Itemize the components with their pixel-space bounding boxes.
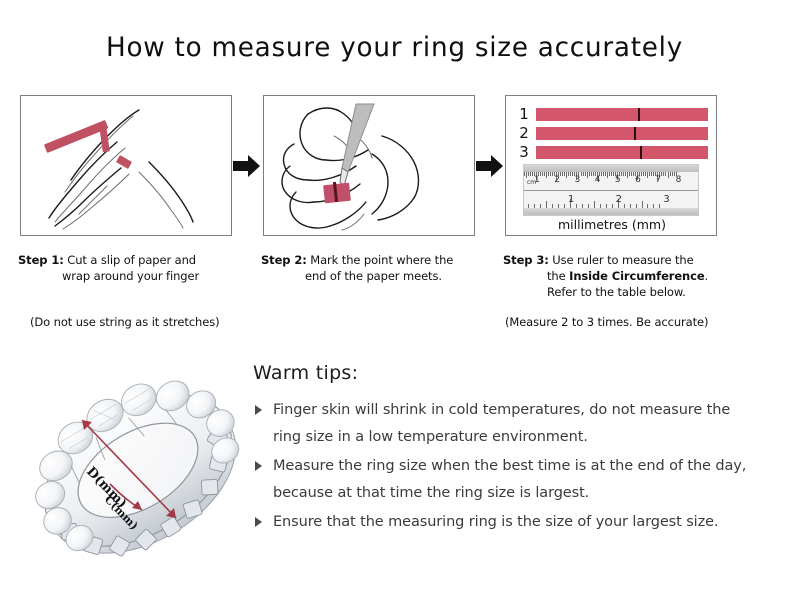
ruler-tick	[564, 204, 565, 208]
ruler-bottom-number: 3	[663, 194, 669, 205]
ruler-tick	[552, 204, 553, 208]
ruler-tick	[540, 172, 541, 176]
ruler-tick	[668, 172, 669, 178]
measured-strip-row-2: 2	[514, 127, 714, 142]
ruler-top-edge	[524, 165, 698, 172]
ruler-bottom-number: 1	[568, 194, 574, 205]
step-1-line2: wrap around your finger	[18, 268, 250, 284]
step-3-line2-pre: the	[547, 269, 569, 283]
ruler-tick	[609, 172, 610, 176]
warm-tips-section: Warm tips: Finger skin will shrink in co…	[253, 362, 753, 538]
ruler-top-number: 8	[676, 175, 682, 185]
ruler-top-number: 6	[635, 175, 641, 185]
ruler-tick	[581, 172, 582, 176]
ruler-tick	[583, 172, 584, 176]
ruler-tick	[674, 172, 675, 176]
ruler-tick	[544, 172, 545, 176]
arrow-right-icon-1	[233, 153, 261, 179]
strip-mark-2	[634, 127, 636, 140]
hand-marking-paper-icon	[264, 96, 474, 235]
ruler-tick	[621, 172, 622, 176]
ruler-tick	[631, 172, 632, 176]
step-1-illustration-panel	[20, 95, 232, 236]
ruler-tick	[588, 204, 589, 208]
ruler-tick	[582, 204, 583, 208]
paper-strip-shape	[323, 182, 351, 203]
ruler-tick	[647, 172, 648, 178]
step-2-illustration-panel	[263, 95, 475, 236]
ruler-tick	[587, 172, 588, 178]
ruler-tick	[572, 172, 573, 176]
ruler-tick	[633, 172, 634, 176]
ruler-tick	[589, 172, 590, 176]
ruler-top-number: 4	[595, 175, 601, 185]
ruler-tick	[558, 204, 559, 208]
hand-with-paper-strip-icon	[21, 96, 231, 235]
pen-shape	[340, 104, 374, 186]
measured-strip-row-1: 1	[514, 108, 714, 123]
triangle-bullet-icon	[255, 517, 262, 527]
ruler-tick	[542, 172, 543, 176]
step-1-note: (Do not use string as it stretches)	[30, 315, 219, 329]
page-title: How to measure your ring size accurately	[12, 32, 777, 63]
step-2-label: Step 2:	[261, 253, 307, 267]
ruler-tick	[641, 172, 642, 176]
ruler-tick	[576, 204, 577, 208]
ruler-tick	[611, 172, 612, 176]
step-3-label: Step 3:	[503, 253, 549, 267]
ruler-tick	[651, 172, 652, 176]
ruler-tick	[630, 204, 631, 208]
warm-tip-text: Finger skin will shrink in cold temperat…	[273, 402, 730, 445]
step-3-line1: Use ruler to measure the	[552, 253, 693, 267]
step-3-line2-post: .	[705, 269, 709, 283]
strip-number-3: 3	[516, 143, 532, 161]
ruler-tick	[530, 172, 531, 176]
ring-measurement-figure: D(mm) C(mm)	[24, 352, 254, 587]
ruler-graphic: 12345678 123 cm	[523, 164, 699, 216]
ruler-tick	[613, 172, 614, 176]
ruler-tick	[546, 172, 547, 178]
ruler-divider	[524, 190, 698, 191]
step-2-caption: Step 2: Mark the point where the end of …	[261, 252, 493, 284]
ruler-tick	[594, 201, 595, 208]
ruler-top-number: 3	[574, 175, 580, 185]
strip-bar-2	[536, 127, 708, 140]
ruler-tick	[601, 172, 602, 176]
ruler-tick	[636, 204, 637, 208]
ruler-tick	[659, 204, 660, 208]
strip-number-1: 1	[516, 105, 532, 123]
ruler-tick	[600, 204, 601, 208]
ruler-tick	[560, 172, 561, 176]
ruler-tick	[564, 172, 565, 176]
ruler-tick	[552, 172, 553, 176]
ruler-tick	[629, 172, 630, 176]
strip-number-2: 2	[516, 124, 532, 142]
ruler-tick	[649, 172, 650, 176]
ruler-tick	[624, 204, 625, 208]
ruler-tick	[642, 201, 643, 208]
strip-bar-1	[536, 108, 708, 121]
ruler-tick	[670, 172, 671, 176]
measured-strip-row-3: 3	[514, 146, 714, 161]
strip-mark-3	[640, 146, 642, 159]
ruler-tick	[562, 172, 563, 176]
ruler-unit-label: millimetres (mm)	[506, 217, 717, 232]
ruler-tick	[566, 172, 567, 178]
step-2-line2: end of the paper meets.	[261, 268, 493, 284]
step-3-line3: Refer to the table below.	[503, 284, 753, 300]
ruler-tick	[570, 172, 571, 176]
ruler-tick	[647, 204, 648, 208]
ruler-bottom-edge	[524, 208, 698, 215]
ruler-top-number: 5	[615, 175, 621, 185]
strip-mark-1	[638, 108, 640, 121]
triangle-bullet-icon	[255, 405, 262, 415]
ring-diagram-icon: D(mm) C(mm)	[24, 352, 254, 587]
ruler-tick	[593, 172, 594, 176]
ruler-top-number: 2	[554, 175, 560, 185]
ruler-tick	[534, 204, 535, 208]
step-1-label: Step 1:	[18, 253, 64, 267]
warm-tip-text: Ensure that the measuring ring is the si…	[273, 514, 718, 530]
triangle-bullet-icon	[255, 461, 262, 471]
ruler-tick	[526, 172, 527, 178]
ruler-tick	[643, 172, 644, 176]
ruler-tick	[606, 204, 607, 208]
step-3-line2: the Inside Circumference.	[503, 268, 753, 284]
ruler-tick	[591, 172, 592, 176]
step-3-illustration-panel: 1 2 3 12345678 123 cm millimetres (mm)	[505, 95, 717, 236]
warm-tip-text: Measure the ring size when the best time…	[273, 458, 746, 501]
warm-tips-heading: Warm tips:	[253, 362, 753, 384]
ruler-tick	[528, 172, 529, 176]
step-2-line1: Mark the point where the	[310, 253, 453, 267]
ruler-tick	[627, 172, 628, 178]
ruler-tick	[663, 172, 664, 176]
ruler-tick	[672, 172, 673, 176]
step-1-line1: Cut a slip of paper and	[67, 253, 196, 267]
warm-tip-item: Ensure that the measuring ring is the si…	[253, 509, 753, 536]
ruler-tick	[625, 172, 626, 176]
ruler-unit-cm: cm	[527, 179, 536, 186]
ruler-tick	[645, 172, 646, 176]
ruler-tick	[546, 201, 547, 208]
ruler-tick	[612, 204, 613, 208]
strip-bar-3	[536, 146, 708, 159]
step-1-caption: Step 1: Cut a slip of paper and wrap aro…	[18, 252, 250, 284]
ruler-tick	[548, 172, 549, 176]
step-3-note: (Measure 2 to 3 times. Be accurate)	[505, 315, 708, 329]
ruler-tick	[623, 172, 624, 176]
ruler-bottom-number: 2	[616, 194, 622, 205]
ruler-tick	[532, 172, 533, 176]
step-3-inside-circumference: Inside Circumference	[569, 269, 704, 283]
ruler-tick	[605, 172, 606, 176]
step-3-caption: Step 3: Use ruler to measure the the Ins…	[503, 252, 753, 300]
ruler-tick	[665, 172, 666, 176]
ruler-tick	[550, 172, 551, 176]
ruler-tick	[540, 204, 541, 208]
ruler-tick	[528, 204, 529, 208]
ruler-tick	[568, 172, 569, 176]
ruler-tick	[603, 172, 604, 176]
ruler-tick	[607, 172, 608, 178]
warm-tip-item: Measure the ring size when the best time…	[253, 453, 753, 507]
ruler-tick	[585, 172, 586, 176]
ruler-tick	[653, 204, 654, 208]
arrow-right-icon-2	[476, 153, 504, 179]
warm-tip-item: Finger skin will shrink in cold temperat…	[253, 397, 753, 451]
ruler-tick	[661, 172, 662, 176]
ruler-tick	[524, 172, 525, 176]
ruler-top-number: 7	[655, 175, 661, 185]
ruler-tick	[653, 172, 654, 176]
